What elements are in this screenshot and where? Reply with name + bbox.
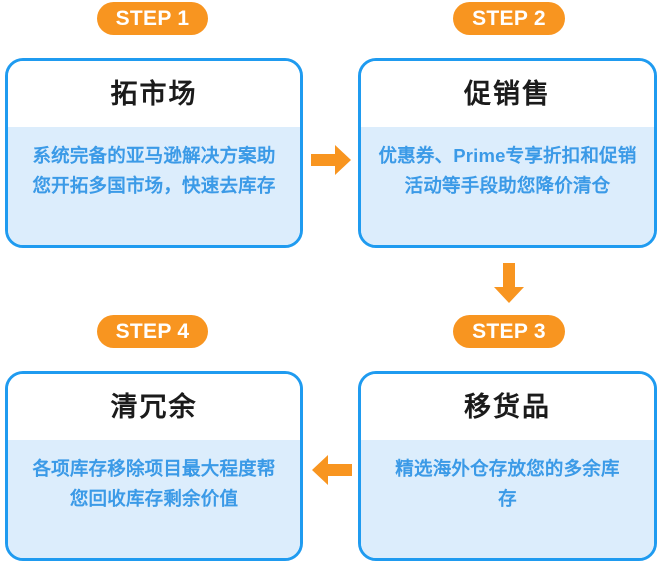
step-card-4-body: 各项库存移除项目最大程度帮您回收库存剩余价值 (8, 440, 300, 558)
step-card-1-header: 拓市场 (8, 61, 300, 127)
step-card-4-header: 清冗余 (8, 374, 300, 440)
step-card-1-body: 系统完备的亚马逊解决方案助您开拓多国市场，快速去库存 (8, 127, 300, 245)
step-card-2-body: 优惠券、Prime专享折扣和促销活动等手段助您降价清仓 (361, 127, 654, 245)
step-badge-4: STEP 4 (97, 315, 208, 348)
step-card-3-title: 移货品 (464, 394, 551, 421)
step-card-4-description: 各项库存移除项目最大程度帮您回收库存剩余价值 (28, 454, 280, 514)
arrow-left-icon (311, 454, 352, 486)
step-badge-3-label: STEP 3 (472, 320, 546, 344)
step-card-4-title: 清冗余 (111, 394, 198, 421)
step-card-3: 移货品 精选海外仓存放您的多余库存 (358, 371, 657, 561)
step-card-2-title: 促销售 (464, 81, 551, 108)
step-badge-4-label: STEP 4 (116, 320, 190, 344)
step-badge-1: STEP 1 (97, 2, 208, 35)
process-flow-diagram: STEP 1 拓市场 系统完备的亚马逊解决方案助您开拓多国市场，快速去库存 ST… (0, 0, 660, 565)
step-badge-1-label: STEP 1 (116, 7, 190, 31)
step-card-1-title: 拓市场 (111, 81, 198, 108)
step-badge-2: STEP 2 (453, 2, 565, 35)
arrow-down-icon (493, 263, 525, 304)
step-card-2: 促销售 优惠券、Prime专享折扣和促销活动等手段助您降价清仓 (358, 58, 657, 248)
step-card-3-description: 精选海外仓存放您的多余库存 (393, 454, 623, 514)
arrow-right-icon (311, 144, 352, 176)
step-card-2-header: 促销售 (361, 61, 654, 127)
step-badge-3: STEP 3 (453, 315, 565, 348)
step-card-3-body: 精选海外仓存放您的多余库存 (361, 440, 654, 558)
step-card-1: 拓市场 系统完备的亚马逊解决方案助您开拓多国市场，快速去库存 (5, 58, 303, 248)
step-card-1-description: 系统完备的亚马逊解决方案助您开拓多国市场，快速去库存 (29, 141, 279, 201)
step-badge-2-label: STEP 2 (472, 7, 546, 31)
step-card-4: 清冗余 各项库存移除项目最大程度帮您回收库存剩余价值 (5, 371, 303, 561)
step-card-2-description: 优惠券、Prime专享折扣和促销活动等手段助您降价清仓 (377, 141, 639, 201)
step-card-3-header: 移货品 (361, 374, 654, 440)
